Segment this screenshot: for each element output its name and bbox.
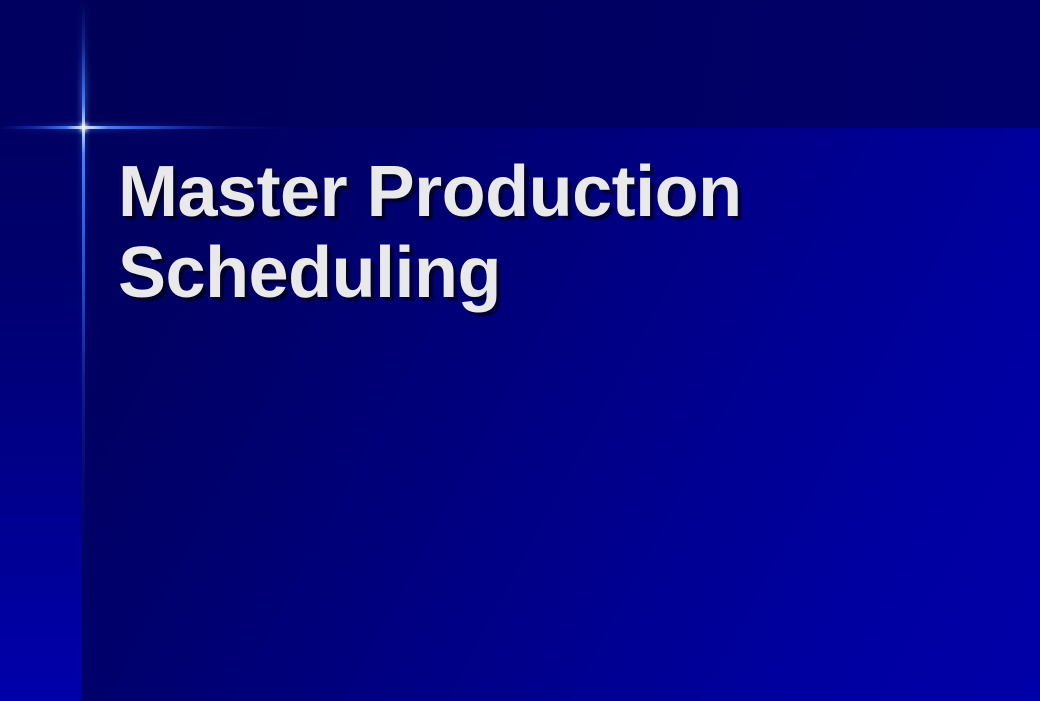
left-accent-strip xyxy=(0,0,83,701)
slide-background-top-band xyxy=(83,0,1040,128)
vertical-accent-rule xyxy=(82,0,85,701)
horizontal-accent-rule xyxy=(0,126,300,129)
title-placeholder: Master Production Scheduling xyxy=(118,152,938,313)
crosshair-intersection-icon xyxy=(78,121,90,134)
slide-title: Master Production Scheduling xyxy=(118,152,938,313)
presentation-slide: Master Production Scheduling xyxy=(0,0,1040,701)
